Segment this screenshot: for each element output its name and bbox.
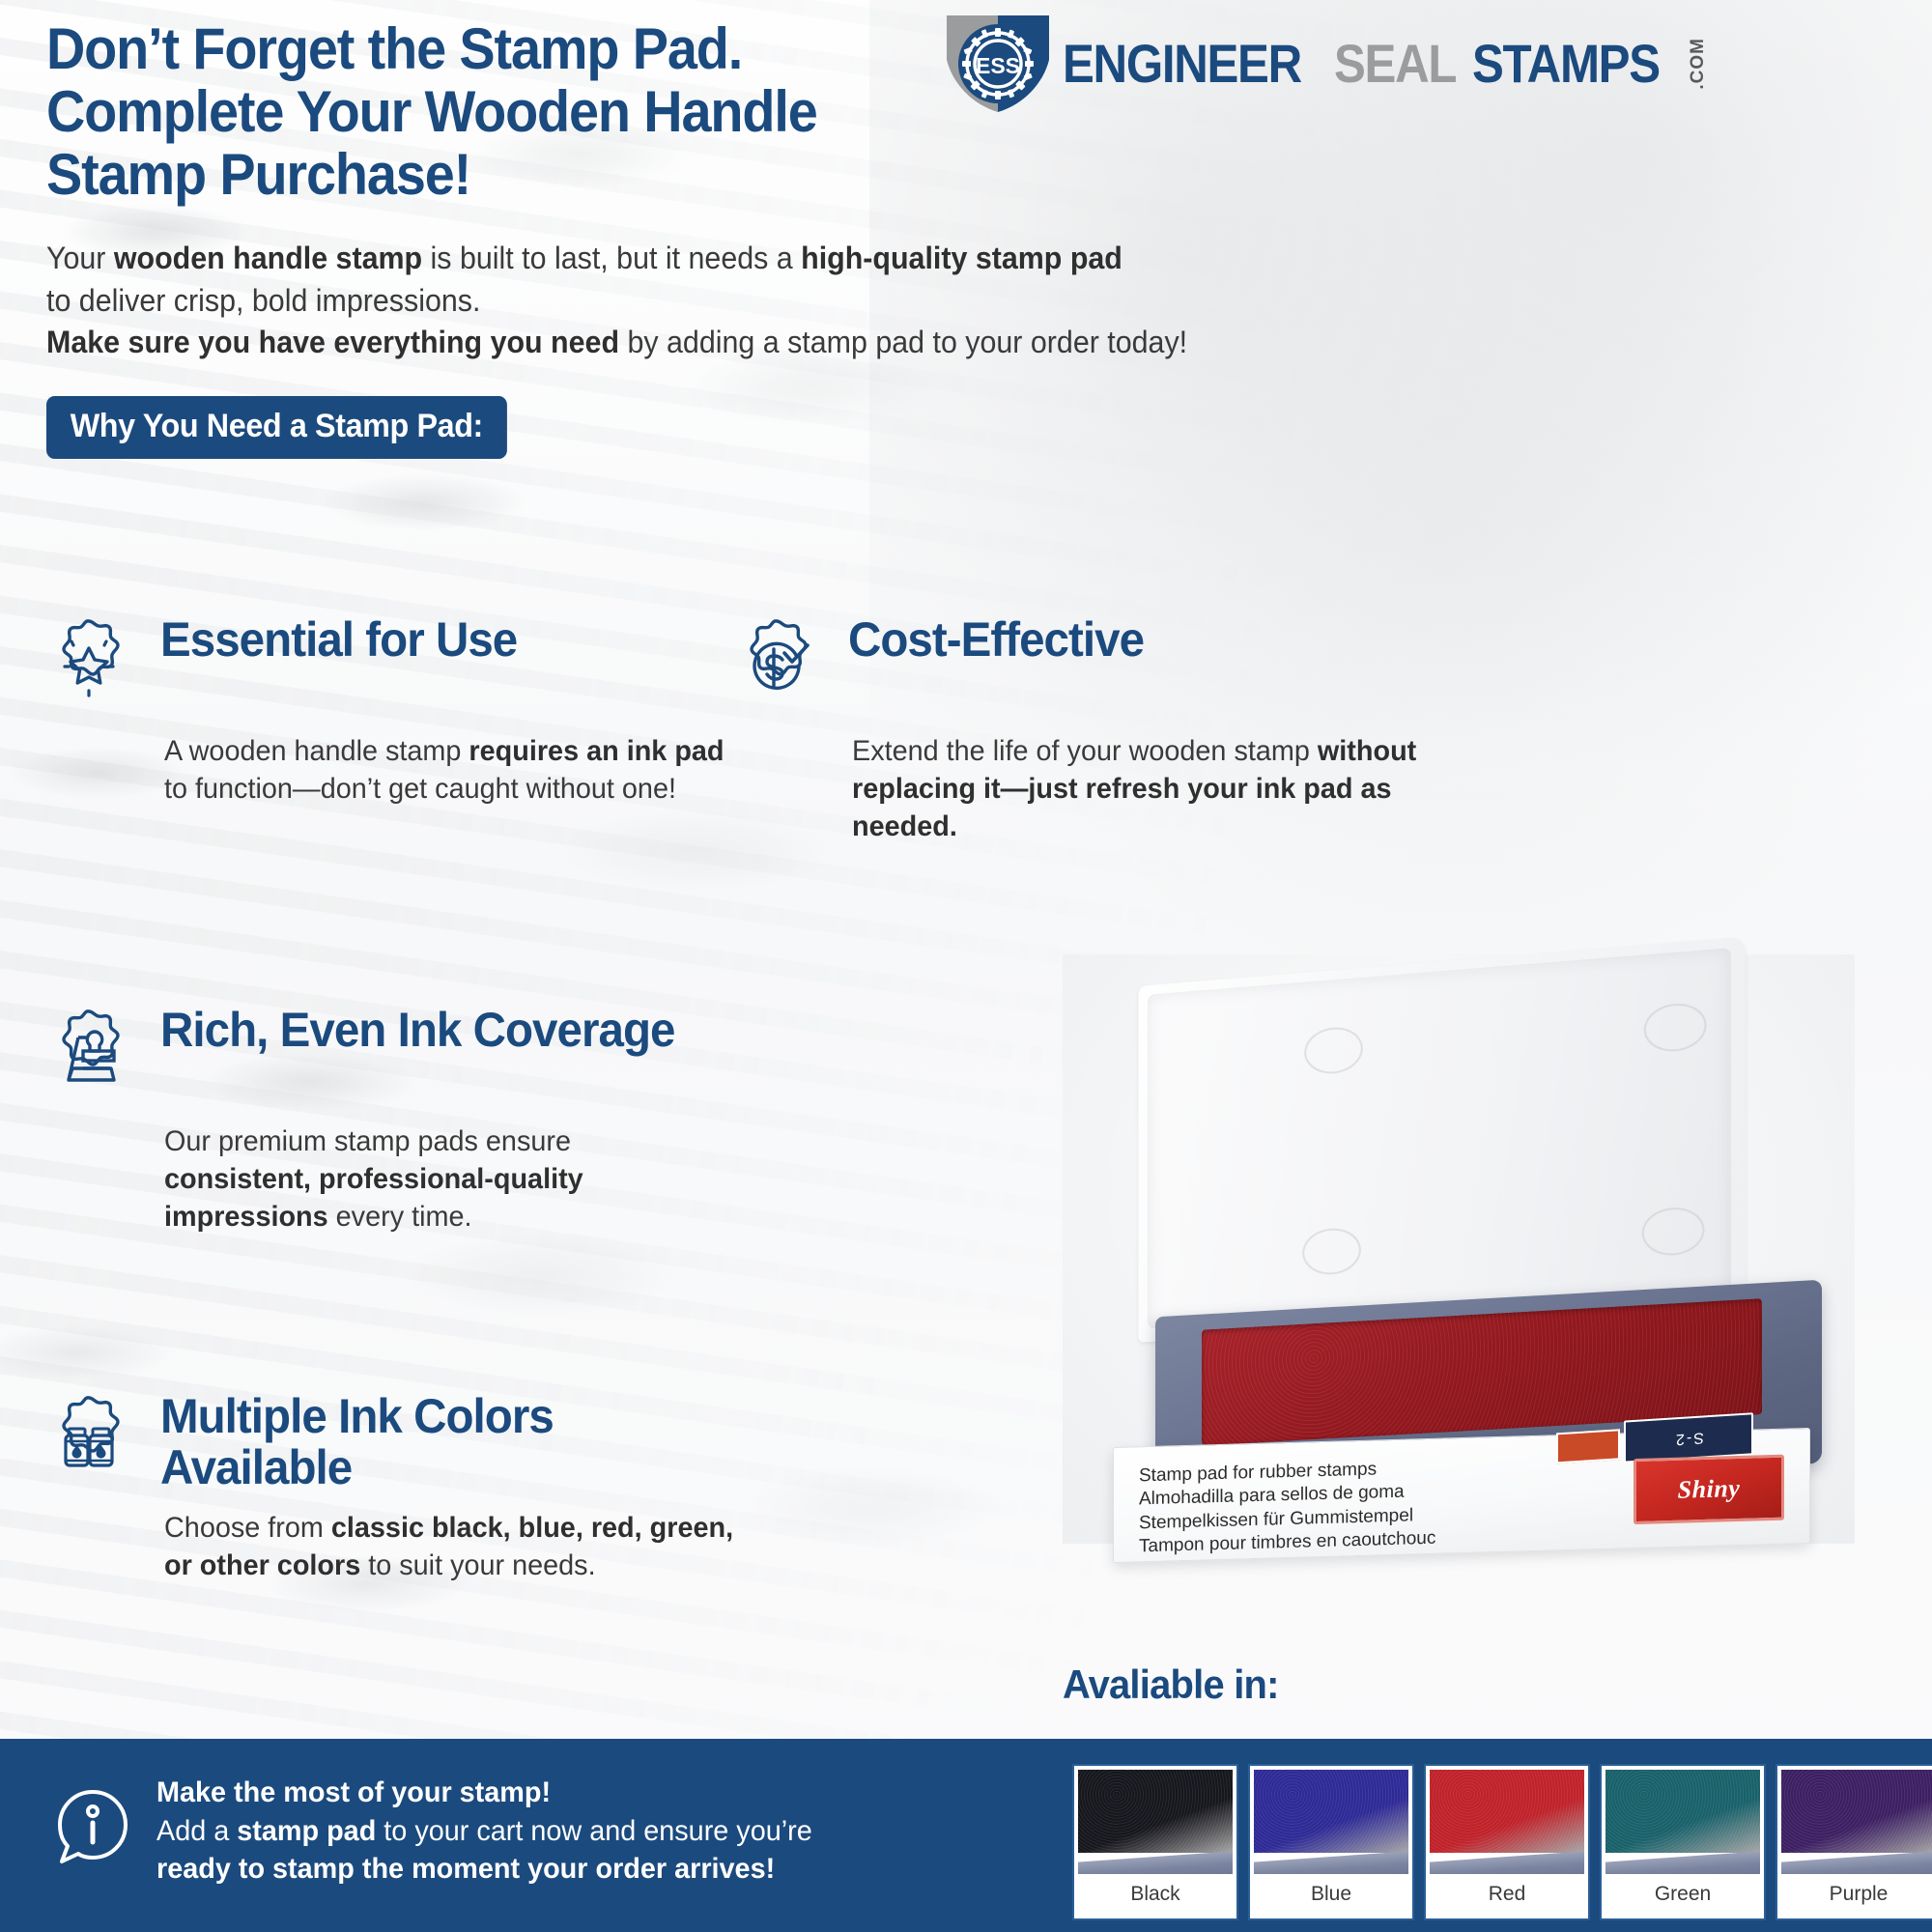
logo-word-engineer: ENGINEER [1063, 37, 1301, 91]
intro-paragraph: Your wooden handle stamp is built to las… [46, 238, 1276, 364]
feature-body-c: every time. [328, 1201, 472, 1233]
intro-l1d: high-quality stamp pad [801, 241, 1122, 275]
feature-body-a: Choose from [164, 1512, 331, 1544]
swatch-ink [1078, 1770, 1233, 1853]
feature-body-a: A wooden handle stamp [164, 735, 469, 767]
swatch-label: Blue [1254, 1874, 1408, 1915]
swatch-image [1254, 1770, 1408, 1874]
available-in-text: Avaliable in: [1063, 1662, 1279, 1707]
feature-multiple-ink-colors: Multiple Ink Colors Available Choose fro… [39, 1391, 734, 1584]
shiny-brand-logo: Shiny [1634, 1455, 1784, 1524]
feature-body: Choose from classic black, blue, red, gr… [164, 1509, 767, 1584]
logo-suffix-dotcom: .COM [1689, 38, 1707, 90]
dollar-check-badge-icon [726, 616, 827, 717]
cta-line-1: Make the most of your stamp! [156, 1774, 812, 1812]
swatch-tray [1430, 1852, 1584, 1874]
box-model-text: S-2 [1674, 1428, 1704, 1447]
swatch-label: Purple [1781, 1874, 1932, 1915]
feature-rich-even-ink-coverage: Rich, Even Ink Coverage Our premium stam… [39, 1005, 715, 1236]
color-swatch-list: Black Blue Red Green [1074, 1766, 1932, 1918]
infographic-page: Don’t Forget the Stamp Pad. Complete You… [0, 0, 1932, 1932]
headline-line-1: Don’t Forget the Stamp Pad. [46, 17, 891, 80]
product-photo: S-2 Stamp pad for rubber stamps Almohadi… [1063, 954, 1855, 1544]
product-box: S-2 Stamp pad for rubber stamps Almohadi… [1113, 1428, 1810, 1563]
intro-l1c: is built to last, but it needs a [422, 241, 801, 275]
ess-shield-icon: ESS [943, 12, 1053, 116]
swatch-red[interactable]: Red [1426, 1766, 1588, 1918]
feature-essential-for-use: Essential for Use A wooden handle stamp … [39, 614, 773, 808]
intro-l2: to deliver crisp, bold impressions. [46, 283, 480, 318]
swatch-tray [1781, 1852, 1932, 1874]
rubber-stamp-badge-icon [39, 1007, 139, 1107]
cta-line-2b: stamp pad [237, 1815, 376, 1847]
swatch-tray [1254, 1852, 1408, 1874]
brand-logo[interactable]: ESS ENGINEER SEAL STAMPS .COM [943, 12, 1918, 116]
swatch-tray [1078, 1852, 1233, 1874]
shiny-brand-text: Shiny [1678, 1474, 1741, 1505]
cta-line-2a: Add a [156, 1815, 237, 1847]
feature-body-a: Our premium stamp pads ensure [164, 1125, 571, 1157]
swatch-image [1078, 1770, 1233, 1874]
info-bubble-icon [54, 1786, 131, 1875]
section-banner-label: Why You Need a Stamp Pad: [71, 408, 483, 444]
swatch-image [1605, 1770, 1760, 1874]
intro-l3b: by adding a stamp pad to your order toda… [619, 325, 1187, 359]
feature-title: Multiple Ink Colors Available [160, 1391, 705, 1492]
feature-body-a: Extend the life of your wooden stamp [852, 735, 1318, 767]
cta-line-2: Add a stamp pad to your cart now and ens… [156, 1812, 812, 1851]
page-title: Don’t Forget the Stamp Pad. Complete You… [46, 17, 891, 206]
headline-line-3: Stamp Purchase! [46, 143, 891, 206]
feature-body-c: to suit your needs. [360, 1549, 595, 1581]
intro-l3a: Make sure you have everything you need [46, 325, 619, 359]
swatch-green[interactable]: Green [1602, 1766, 1764, 1918]
swatch-ink [1781, 1770, 1932, 1853]
swatch-black[interactable]: Black [1074, 1766, 1236, 1918]
feature-title: Essential for Use [160, 614, 517, 666]
intro-l1a: Your [46, 241, 114, 275]
feature-cost-effective: Cost-Effective Extend the life of your w… [726, 614, 1499, 845]
swatch-blue[interactable]: Blue [1250, 1766, 1412, 1918]
cta-line-2c: to your cart now and ensure you’re [376, 1815, 811, 1847]
ink-bottles-badge-icon [39, 1393, 139, 1493]
star-badge-icon [39, 616, 139, 717]
swatch-image [1430, 1770, 1584, 1874]
swatch-label: Red [1430, 1874, 1584, 1915]
intro-l1b: wooden handle stamp [114, 241, 422, 275]
cta-text: Make the most of your stamp! Add a stamp… [156, 1774, 812, 1889]
feature-body-b: requires an ink pad [469, 735, 724, 767]
headline-line-2: Complete Your Wooden Handle [46, 80, 891, 143]
box-orange-tag [1556, 1429, 1620, 1463]
swatch-ink [1254, 1770, 1408, 1853]
swatch-ink [1430, 1770, 1584, 1853]
logo-word-stamps: STAMPS [1472, 37, 1660, 91]
swatch-tray [1605, 1852, 1760, 1874]
swatch-label: Green [1605, 1874, 1760, 1915]
section-banner: Why You Need a Stamp Pad: [46, 396, 507, 459]
swatch-label: Black [1078, 1874, 1233, 1915]
swatch-purple[interactable]: Purple [1777, 1766, 1932, 1918]
available-in-label: Avaliable in: [1063, 1662, 1279, 1708]
feature-body: Our premium stamp pads ensure consistent… [164, 1122, 702, 1236]
feature-title: Rich, Even Ink Coverage [160, 1005, 675, 1056]
feature-body: A wooden handle stamp requires an ink pa… [164, 732, 739, 808]
ess-monogram: ESS [976, 53, 1020, 78]
logo-word-seal: SEAL [1334, 37, 1456, 91]
stamp-pad-lid [1138, 937, 1745, 1343]
feature-body: Extend the life of your wooden stamp wit… [852, 732, 1464, 845]
cta-line-3: ready to stamp the moment your order arr… [156, 1850, 812, 1889]
feature-body-c: to function—don’t get caught without one… [164, 773, 676, 805]
box-description: Stamp pad for rubber stamps Almohadilla … [1139, 1457, 1435, 1559]
cta-block: Make the most of your stamp! Add a stamp… [54, 1774, 1039, 1889]
swatch-ink [1605, 1770, 1760, 1853]
swatch-image [1781, 1770, 1932, 1874]
feature-title: Cost-Effective [848, 614, 1144, 666]
